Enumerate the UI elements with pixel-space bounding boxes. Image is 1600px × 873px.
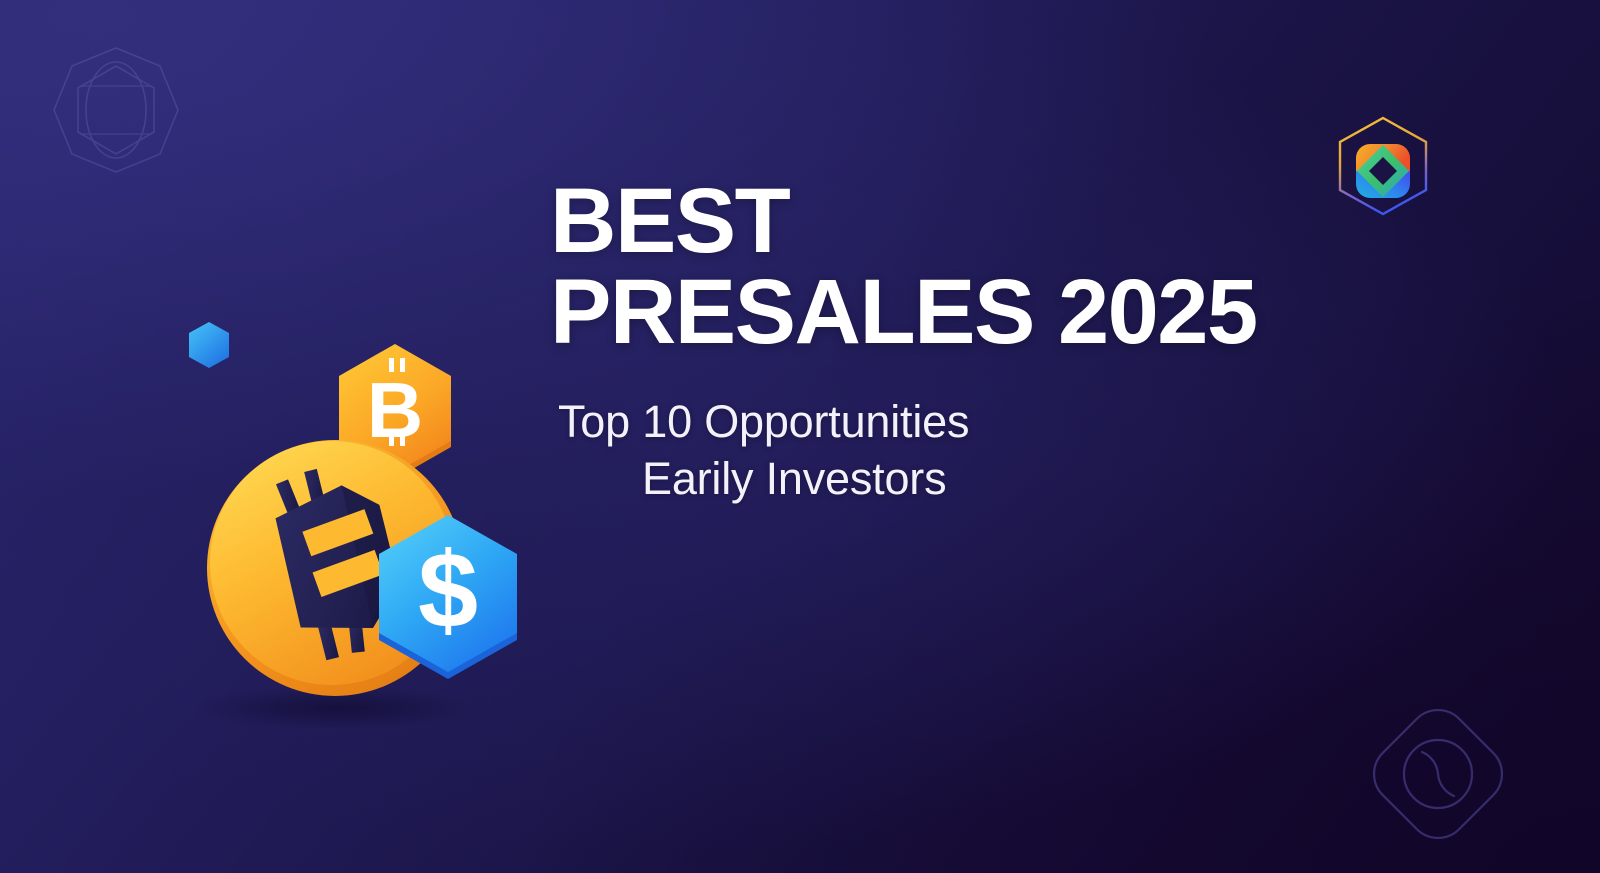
watermark-swirl-diamond-bottom-right bbox=[1358, 694, 1518, 854]
watermark-octagon-hexagon-top-left bbox=[48, 44, 184, 192]
crypto-coin-cluster-illustration: B bbox=[160, 300, 560, 730]
subtitle-line-2: Earily Investors bbox=[550, 451, 1350, 508]
headline-line-2: PRESALES 2025 bbox=[550, 267, 1350, 358]
headline-line-1: BEST bbox=[550, 170, 789, 272]
page-subtitle: Top 10 Opportunities Earily Investors bbox=[550, 358, 1350, 507]
page-title: BEST PRESALES 2025 bbox=[550, 176, 1350, 358]
subtitle-line-1: Top 10 Opportunities bbox=[550, 394, 1350, 451]
presale-banner: B bbox=[0, 0, 1600, 873]
logo-mark-icon bbox=[1356, 144, 1410, 198]
small-blue-hexagon bbox=[189, 322, 229, 368]
bitcoin-symbol-icon: B bbox=[367, 366, 423, 454]
headline-block: BEST PRESALES 2025 Top 10 Opportunities … bbox=[550, 176, 1350, 508]
dollar-symbol-icon: $ bbox=[418, 529, 478, 650]
